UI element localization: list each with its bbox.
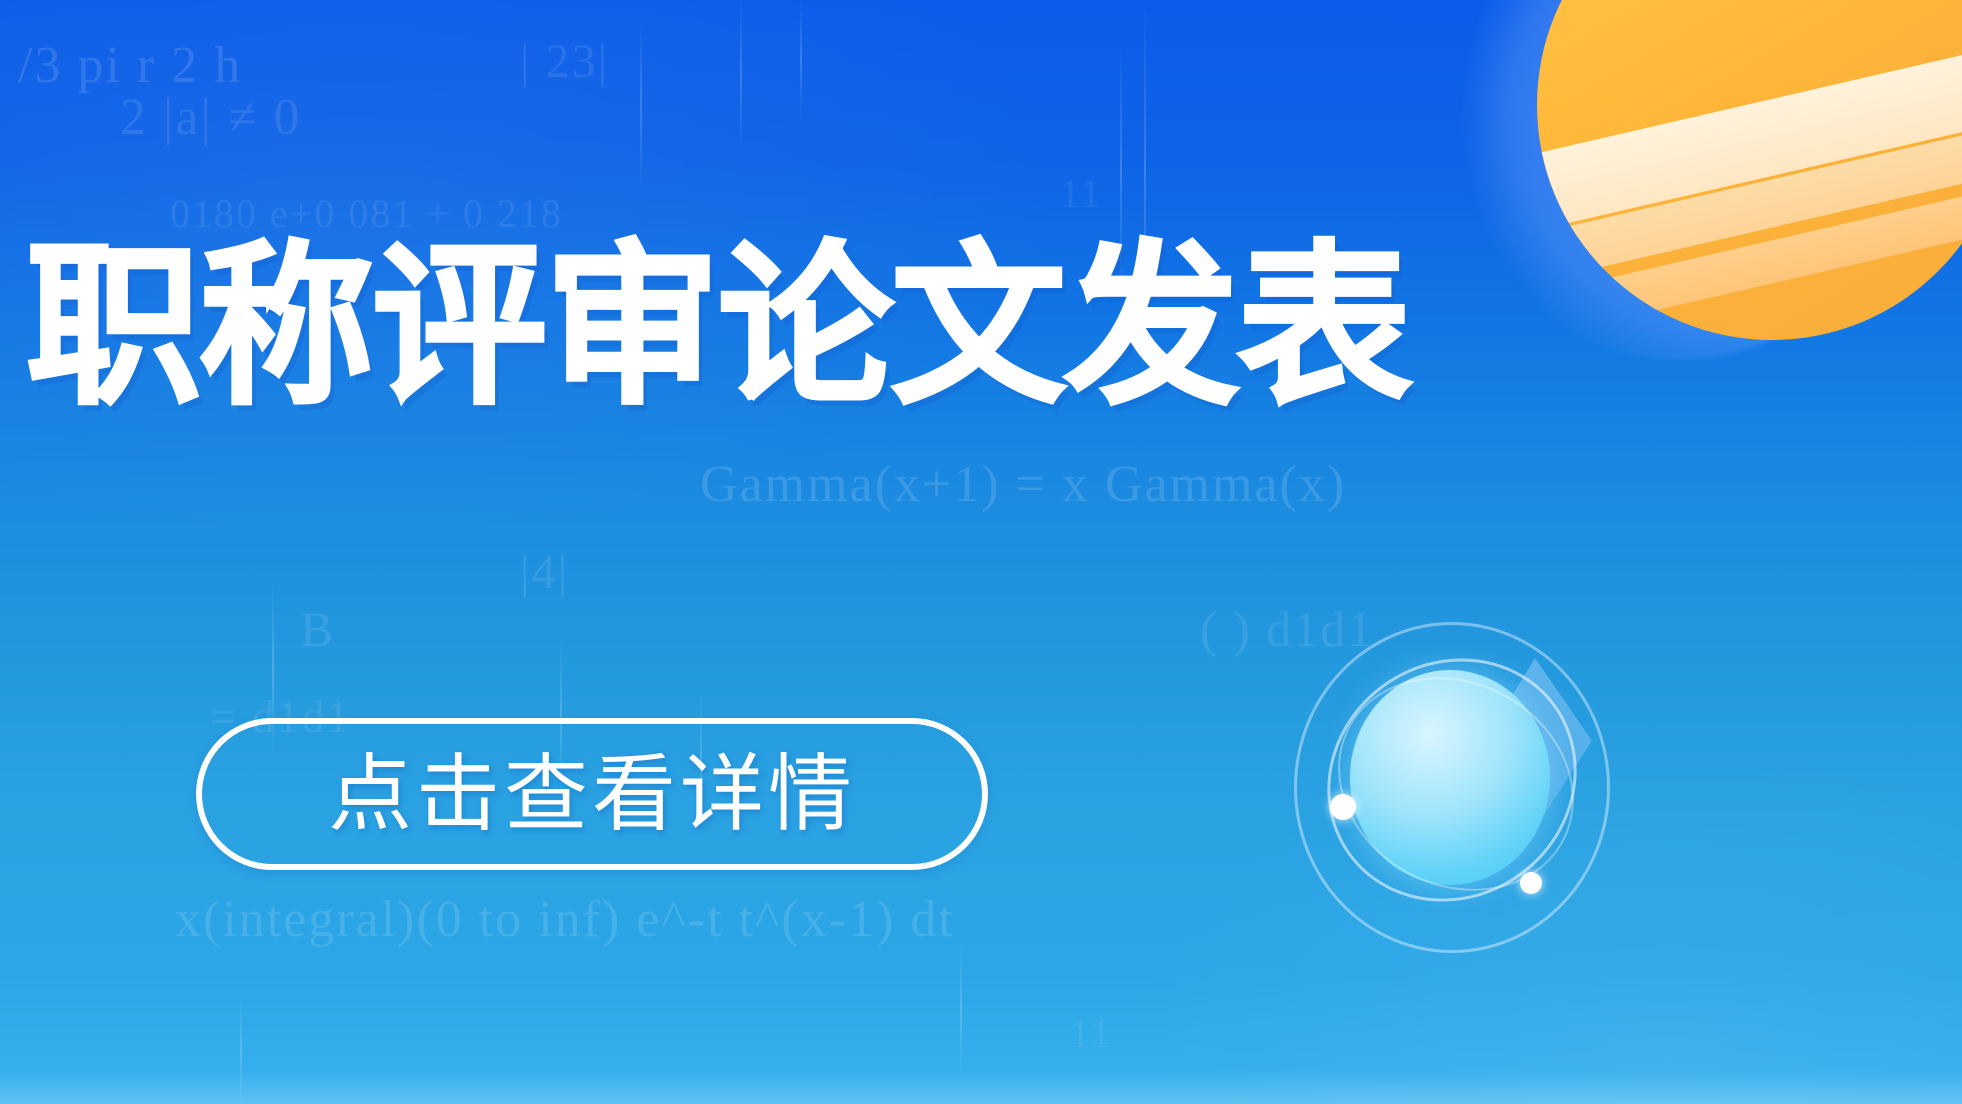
view-details-button[interactable]: 点击查看详情: [196, 718, 988, 870]
view-details-button-label: 点击查看详情: [328, 752, 856, 836]
planet-body: [1537, 0, 1962, 340]
watermark-text-4: |4|: [520, 545, 569, 600]
hairline-10: [960, 940, 962, 1080]
watermark-text-1: /3 pi r 2 h: [18, 36, 242, 95]
watermark-text-12: 11: [1070, 1010, 1113, 1057]
watermark-text-9: B: [300, 600, 335, 658]
atom-graphic: [1294, 622, 1614, 952]
hairline-2: [800, 0, 802, 120]
atom-electron-1: [1330, 794, 1356, 820]
watermark-text-2: 2 |a| ≠ 0: [120, 88, 301, 147]
watermark-text-11: 11: [1060, 170, 1103, 217]
hairline-3: [640, 20, 642, 190]
atom-electron-2: [1520, 872, 1542, 894]
watermark-text-3: | 23|: [520, 34, 609, 89]
watermark-text-6: Gamma(x+1) = x Gamma(x): [700, 455, 1346, 514]
hairline-1: [740, 0, 742, 150]
promo-banner: /3 pi r 2 h 2 |a| ≠ 0 | 23| 0180 e+0 081…: [0, 0, 1962, 1104]
saturn-planet-graphic: [1502, 0, 1962, 390]
banner-headline: 职称评审论文发表: [26, 240, 1410, 415]
hairline-9: [240, 1000, 242, 1104]
watermark-text-10: x(integral)(0 to inf) e^-t t^(x-1) dt: [175, 890, 955, 949]
